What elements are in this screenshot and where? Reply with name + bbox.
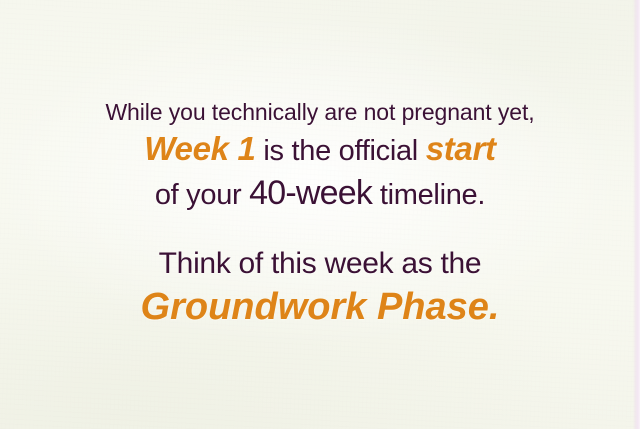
slide-canvas: While you technically are not pregnant y…	[0, 0, 640, 429]
caption-area: While you technically are not pregnant y…	[0, 0, 640, 429]
caption-line-3-tail: timeline.	[372, 179, 485, 211]
forty-week-emphasis: 40-week	[249, 174, 372, 212]
caption-line-3-lead: of your	[155, 179, 249, 211]
caption-line-3: of your 40-week timeline.	[0, 172, 640, 216]
caption-line-5: Groundwork Phase.	[0, 286, 640, 329]
caption-line-2-middle: is the official	[256, 135, 426, 167]
start-accent: start	[426, 130, 496, 167]
week-number-accent: Week 1	[144, 130, 255, 167]
caption-paragraph-2: Think of this week as the Groundwork Pha…	[0, 242, 640, 329]
groundwork-phase-headline: Groundwork Phase.	[141, 286, 500, 328]
caption-line-4: Think of this week as the	[0, 242, 640, 286]
caption-line-1: While you technically are not pregnant y…	[0, 96, 640, 128]
caption-line-2: Week 1 is the official start	[0, 128, 640, 172]
caption-paragraph-1: While you technically are not pregnant y…	[0, 96, 640, 216]
